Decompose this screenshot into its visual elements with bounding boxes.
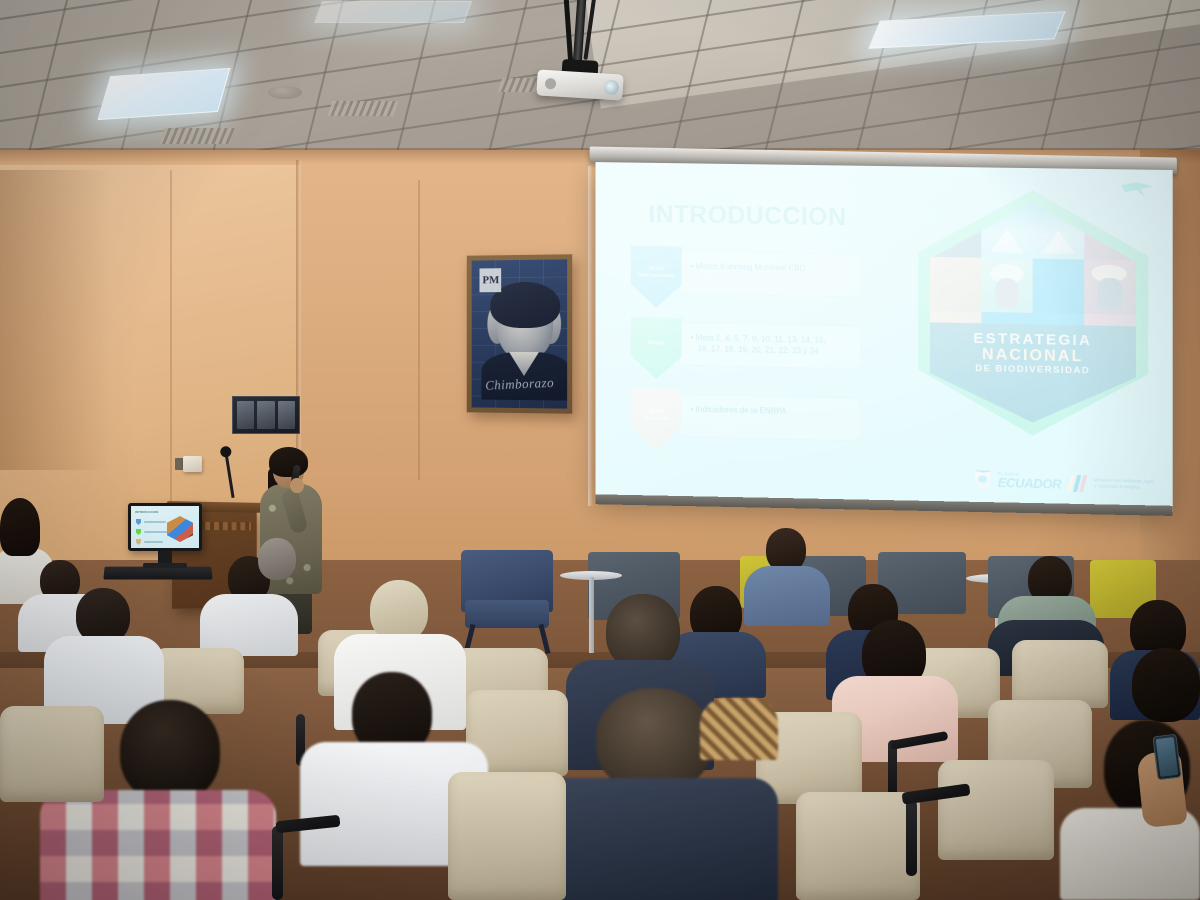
monitor-screen: INTRODUCCION bbox=[131, 506, 199, 548]
monitor-text-line bbox=[144, 521, 166, 523]
biodiversity-logo: ESTRATEGIA NACIONAL DE BIODIVERSIDAD bbox=[918, 189, 1148, 439]
ceiling-projector bbox=[536, 69, 623, 100]
ceiling-light-panel bbox=[314, 1, 472, 23]
table-post bbox=[589, 577, 594, 653]
wall-shadow bbox=[0, 170, 110, 470]
collage-cell bbox=[1084, 259, 1136, 315]
condor-icon bbox=[971, 464, 997, 475]
monitor-text-line bbox=[144, 541, 163, 543]
slide-bullet-text: • Indicadores de la ENBPA bbox=[691, 405, 787, 416]
ecuador-wordmark: EL NUEVO ECUADOR bbox=[998, 473, 1062, 491]
slide-bullet-box: • Meta 1, 4, 5, 7, 9, 10, 11, 13, 14, 15… bbox=[678, 322, 862, 370]
chevron-nivel-nacional: NivelNacional bbox=[631, 388, 682, 451]
presenter-hair-top bbox=[269, 447, 308, 477]
auditorium-chair[interactable] bbox=[0, 706, 104, 802]
ceiling-vent bbox=[328, 101, 399, 116]
attendee-head bbox=[258, 538, 296, 580]
monitor-slide-title: INTRODUCCION bbox=[135, 510, 158, 514]
auditorium-chair[interactable] bbox=[448, 772, 566, 900]
ceiling-speaker bbox=[268, 86, 302, 99]
attendee-jacket bbox=[540, 778, 778, 900]
slide-level-row: • Indicadores de la ENBPA NivelNacional bbox=[631, 388, 868, 455]
slide-bullet-text-line2: 16, 17, 18, 19, 20, 21, 22, 23 y 24 bbox=[691, 345, 819, 357]
collage-cell bbox=[981, 257, 1032, 313]
slide-bullet-box: • Indicadores de la ENBPA bbox=[678, 393, 862, 441]
projection-screen: INTRODUCCION • Marco Kunming Montreal CB… bbox=[596, 162, 1173, 512]
monitor-chevron bbox=[136, 519, 141, 525]
presentation-slide: INTRODUCCION • Marco Kunming Montreal CB… bbox=[596, 162, 1173, 512]
side-table bbox=[560, 571, 622, 580]
attendee-head-curly bbox=[596, 688, 712, 792]
monitor-chevron bbox=[136, 539, 141, 545]
flag-stripes-icon bbox=[1067, 474, 1088, 491]
sign-panel bbox=[278, 401, 295, 429]
attendee-head bbox=[120, 700, 220, 802]
bird-icon bbox=[1120, 179, 1155, 202]
monitor-logo bbox=[167, 516, 193, 542]
footer-country: ECUADOR bbox=[998, 476, 1062, 491]
wall-seam bbox=[418, 180, 420, 480]
equipment-table bbox=[103, 567, 212, 580]
presenter-monitor: INTRODUCCION bbox=[128, 503, 202, 551]
slide-bullet-box: • Marco Kunming Montreal CBD bbox=[678, 251, 862, 298]
ecuador-shield-icon bbox=[973, 468, 993, 493]
chevron-label: Metas bbox=[648, 341, 664, 349]
slide-footer-logo: EL NUEVO ECUADOR Ministerio del Ambiente… bbox=[973, 468, 1155, 497]
slide-bullet-text: • Marco Kunming Montreal CBD bbox=[691, 262, 806, 273]
attendee-plaid-shirt bbox=[40, 790, 276, 900]
wall-display-sign bbox=[232, 396, 300, 434]
attendee-torso bbox=[744, 566, 830, 626]
attendee-hair bbox=[0, 498, 40, 556]
attendee-leopard-scarf bbox=[700, 698, 778, 760]
chevron-metas: Metas bbox=[631, 317, 682, 380]
sign-panel bbox=[257, 401, 274, 429]
monitor-base bbox=[143, 563, 187, 568]
ceiling-vent bbox=[159, 128, 234, 144]
slide-level-rows: • Marco Kunming Montreal CBD NivelIntern… bbox=[631, 246, 868, 466]
ceiling-light-panel bbox=[98, 68, 231, 120]
chevron-label: NivelNacional bbox=[644, 408, 668, 423]
mural-inner: PM Chimborazo bbox=[472, 259, 567, 408]
ministry-name: Ministerio del Ambiente, Agua y Transici… bbox=[1094, 478, 1155, 491]
screen-left-edge bbox=[588, 166, 593, 506]
smartphone[interactable] bbox=[1152, 734, 1181, 781]
slide-level-row: • Marco Kunming Montreal CBD NivelIntern… bbox=[631, 246, 868, 312]
logo-line-3: DE BIODIVERSIDAD bbox=[975, 364, 1090, 376]
attendee-head-curly bbox=[606, 594, 680, 670]
mural-badge: PM bbox=[479, 268, 501, 292]
collage-cell bbox=[930, 256, 981, 312]
wall-switch-box[interactable] bbox=[183, 456, 202, 472]
wall-mural-portrait: PM Chimborazo bbox=[467, 254, 572, 413]
auditorium-chair[interactable] bbox=[796, 792, 920, 900]
monitor-text-line bbox=[144, 531, 168, 533]
presenter-hand bbox=[290, 478, 304, 493]
monitor-chevron bbox=[136, 529, 141, 535]
conference-room-scene: PM Chimborazo INTRODUCCION • Marco Kunmi… bbox=[0, 0, 1200, 900]
lounge-chair-blue[interactable] bbox=[461, 550, 553, 612]
attendee-head bbox=[1132, 648, 1200, 722]
sign-panel bbox=[237, 401, 254, 429]
slide-level-row: • Meta 1, 4, 5, 7, 9, 10, 11, 13, 14, 15… bbox=[631, 317, 868, 384]
collage-cell bbox=[1033, 258, 1085, 314]
chair-armrest bbox=[272, 826, 283, 900]
mural-signature: Chimborazo bbox=[485, 374, 566, 399]
chevron-nivel-internacional: NivelInternacional bbox=[631, 246, 682, 308]
slide-bullet-text: • Meta 1, 4, 5, 7, 9, 10, 11, 13, 14, 15… bbox=[691, 333, 826, 345]
logo-text-band: ESTRATEGIA NACIONAL DE BIODIVERSIDAD bbox=[930, 322, 1136, 425]
wall-seam bbox=[170, 170, 172, 520]
attendee-head bbox=[370, 580, 428, 642]
attendee-torso bbox=[200, 594, 298, 656]
chair-armrest bbox=[906, 800, 917, 876]
mural-badge-text: PM bbox=[482, 274, 499, 286]
lounge-seat bbox=[465, 600, 549, 628]
chevron-label: NivelInternacional bbox=[638, 265, 674, 280]
auditorium-chair[interactable] bbox=[1012, 640, 1108, 708]
auditorium-chair[interactable] bbox=[938, 760, 1054, 860]
